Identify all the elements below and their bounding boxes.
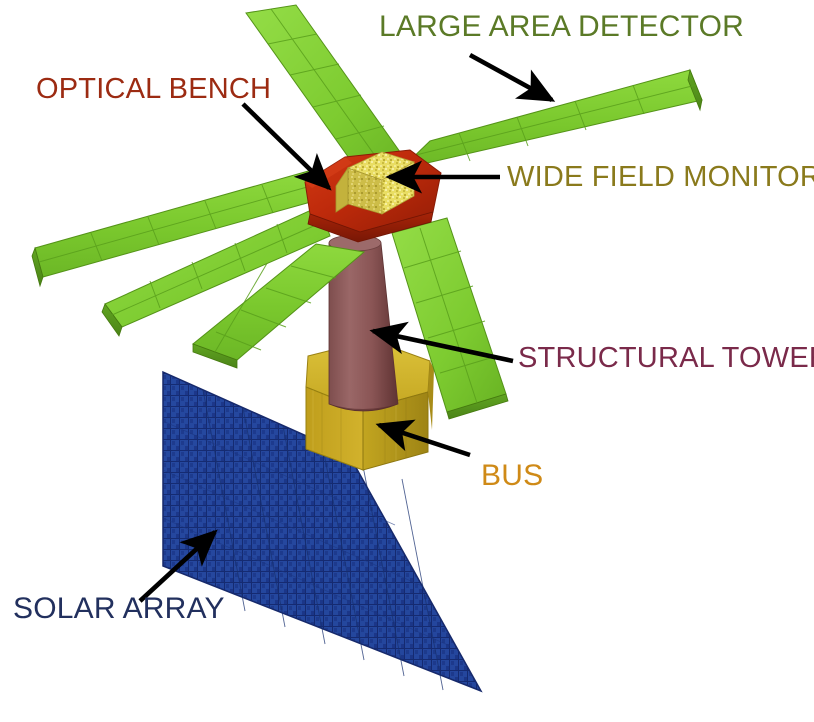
arrow-large-area-detector	[470, 55, 552, 100]
arrow-optical-bench	[243, 104, 329, 188]
diagram-canvas: LARGE AREA DETECTOR OPTICAL BENCH WIDE F…	[0, 0, 814, 722]
label-solar-array: SOLAR ARRAY	[13, 594, 225, 624]
label-large-area-detector: LARGE AREA DETECTOR	[379, 12, 744, 42]
label-wide-field-monitor: WIDE FIELD MONITOR	[507, 163, 814, 192]
label-optical-bench: OPTICAL BENCH	[36, 75, 271, 104]
detector-panel-upper-right	[401, 70, 702, 169]
label-structural-tower: STRUCTURAL TOWER	[518, 344, 814, 373]
label-bus: BUS	[481, 461, 543, 491]
